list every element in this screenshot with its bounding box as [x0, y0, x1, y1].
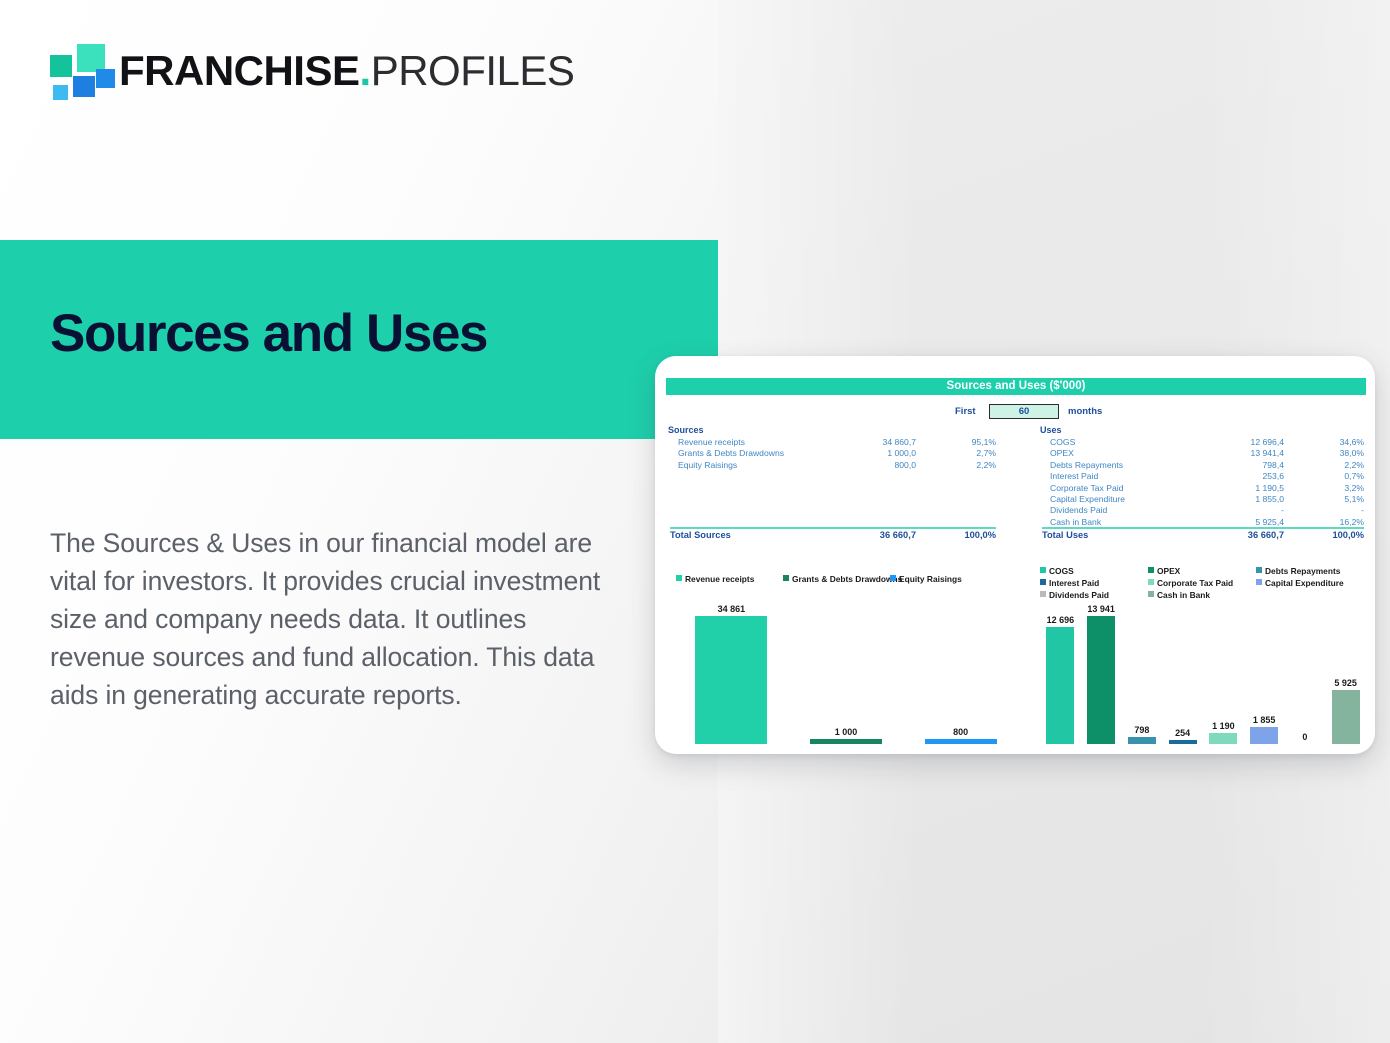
- uses-table: Uses COGS 12 696,4 34,6% OPEX 13 941,4 3…: [1040, 424, 1366, 528]
- legend-label: Corporate Tax Paid: [1157, 578, 1233, 588]
- bar-column[interactable]: 5 925: [1332, 616, 1360, 744]
- bar-value-label: 12 696: [1047, 615, 1075, 625]
- legend-swatch-icon: [1040, 591, 1046, 597]
- bar: [1169, 740, 1197, 744]
- bar-value-label: 0: [1302, 732, 1307, 742]
- table-row: Corporate Tax Paid 1 190,5 3,2%: [1040, 483, 1366, 494]
- bar-value-label: 800: [953, 727, 968, 737]
- row-value: 800,0: [894, 460, 916, 471]
- legend-swatch-icon: [783, 575, 789, 581]
- months-prefix-label: First: [955, 404, 976, 420]
- legend-label: Grants & Debts Drawdowns: [792, 574, 902, 584]
- legend-swatch-icon: [1040, 567, 1046, 573]
- logo-squares-icon: [47, 42, 111, 100]
- row-percent: 0,7%: [1344, 471, 1364, 482]
- uses-bar-chart: 12 69613 9417982541 1901 85505 925: [1040, 600, 1366, 744]
- bar: [695, 616, 767, 744]
- row-value: 798,4: [1262, 460, 1284, 471]
- legend-label: Dividends Paid: [1049, 590, 1109, 600]
- logo-square-1: [50, 55, 72, 77]
- total-value: 36 660,7: [1248, 529, 1284, 542]
- total-value: 36 660,7: [880, 529, 916, 542]
- slide-canvas: FRANCHISE.PROFILES Sources and Uses The …: [0, 0, 1390, 1043]
- bar-column[interactable]: 13 941: [1087, 616, 1115, 744]
- legend-label: Debts Repayments: [1265, 566, 1340, 576]
- sources-total-row: Total Sources 36 660,7 100,0%: [668, 529, 998, 542]
- legend-item[interactable]: Capital Expenditure: [1256, 578, 1344, 589]
- brand-name-light: PROFILES: [371, 47, 575, 94]
- legend-label: Capital Expenditure: [1265, 578, 1344, 588]
- legend-label: Cash in Bank: [1157, 590, 1210, 600]
- row-percent: 2,2%: [1344, 460, 1364, 471]
- background-left-panel: [0, 0, 718, 1043]
- legend-label: Equity Raisings: [899, 574, 962, 584]
- row-value: 34 860,7: [883, 437, 916, 448]
- row-value: -: [1281, 505, 1284, 516]
- bar-column[interactable]: 12 696: [1046, 616, 1074, 744]
- sources-and-uses-sheet: Sources and Uses ($'000) First months So…: [666, 378, 1366, 744]
- legend-item[interactable]: OPEX: [1148, 566, 1180, 577]
- total-percent: 100,0%: [964, 529, 996, 542]
- table-row: Grants & Debts Drawdowns 1 000,0 2,7%: [668, 448, 998, 459]
- table-row: Capital Expenditure 1 855,0 5,1%: [1040, 494, 1366, 505]
- row-value: 253,6: [1262, 471, 1284, 482]
- logo-square-3: [73, 76, 95, 97]
- bar-value-label: 34 861: [718, 604, 746, 614]
- legend-label: OPEX: [1157, 566, 1180, 576]
- page-title: Sources and Uses: [50, 307, 487, 360]
- bar-column[interactable]: 1 855: [1250, 616, 1278, 744]
- total-label: Total Sources: [670, 529, 731, 542]
- row-label: Dividends Paid: [1050, 505, 1107, 516]
- bar-column[interactable]: 800: [925, 616, 997, 744]
- total-label: Total Uses: [1042, 529, 1088, 542]
- row-value: 1 000,0: [887, 448, 916, 459]
- total-percent: 100,0%: [1332, 529, 1364, 542]
- sources-table: Sources Revenue receipts 34 860,7 95,1% …: [668, 424, 998, 471]
- row-label: Grants & Debts Drawdowns: [678, 448, 784, 459]
- bar-value-label: 1 190: [1212, 721, 1235, 731]
- bar: [1128, 737, 1156, 744]
- bar-value-label: 1 000: [835, 727, 858, 737]
- legend-swatch-icon: [1256, 567, 1262, 573]
- months-suffix-label: months: [1068, 404, 1102, 420]
- legend-swatch-icon: [1148, 567, 1154, 573]
- uses-table-header: Uses: [1040, 424, 1366, 437]
- legend-item[interactable]: Interest Paid: [1040, 578, 1099, 589]
- legend-item[interactable]: Grants & Debts Drawdowns: [783, 574, 902, 585]
- bar-value-label: 798: [1134, 725, 1149, 735]
- spreadsheet-card: Sources and Uses ($'000) First months So…: [655, 356, 1375, 754]
- logo-square-2: [77, 44, 105, 72]
- bar-value-label: 13 941: [1087, 604, 1115, 614]
- table-row: Equity Raisings 800,0 2,2%: [668, 460, 998, 471]
- bar-value-label: 1 855: [1253, 715, 1276, 725]
- table-row: COGS 12 696,4 34,6%: [1040, 437, 1366, 448]
- legend-item[interactable]: Debts Repayments: [1256, 566, 1340, 577]
- brand-name-bold: FRANCHISE: [119, 47, 360, 94]
- legend-swatch-icon: [1148, 579, 1154, 585]
- logo-square-5: [53, 85, 68, 100]
- row-label: Corporate Tax Paid: [1050, 483, 1123, 494]
- row-percent: -: [1361, 505, 1364, 516]
- bar: [1332, 690, 1360, 744]
- legend-item[interactable]: COGS: [1040, 566, 1074, 577]
- bar-column[interactable]: 0: [1291, 616, 1319, 744]
- bar: [1250, 727, 1278, 744]
- row-label: COGS: [1050, 437, 1075, 448]
- bar: [925, 739, 997, 744]
- legend-label: Revenue receipts: [685, 574, 754, 584]
- brand-name-dot: .: [360, 47, 371, 94]
- months-input[interactable]: [989, 404, 1059, 419]
- legend-swatch-icon: [676, 575, 682, 581]
- sources-bar-chart: 34 8611 000800: [674, 600, 1018, 744]
- legend-item[interactable]: Equity Raisings: [890, 574, 962, 585]
- row-value: 13 941,4: [1251, 448, 1284, 459]
- legend-label: Interest Paid: [1049, 578, 1099, 588]
- table-row: Revenue receipts 34 860,7 95,1%: [668, 437, 998, 448]
- row-label: Equity Raisings: [678, 460, 737, 471]
- legend-item[interactable]: Revenue receipts: [676, 574, 754, 585]
- brand-wordmark: FRANCHISE.PROFILES: [119, 40, 574, 102]
- logo-square-4: [96, 69, 115, 88]
- legend-swatch-icon: [890, 575, 896, 581]
- bar-value-label: 5 925: [1334, 678, 1357, 688]
- row-label: Interest Paid: [1050, 471, 1098, 482]
- sources-table-header: Sources: [668, 424, 998, 437]
- legend-item[interactable]: Corporate Tax Paid: [1148, 578, 1233, 589]
- row-percent: 2,2%: [976, 460, 996, 471]
- legend-swatch-icon: [1148, 591, 1154, 597]
- bar: [1046, 627, 1074, 744]
- bar: [1087, 616, 1115, 744]
- bar-column[interactable]: 798: [1128, 616, 1156, 744]
- row-label: Capital Expenditure: [1050, 494, 1125, 505]
- row-label: OPEX: [1050, 448, 1074, 459]
- bar: [1209, 733, 1237, 744]
- uses-total-row: Total Uses 36 660,7 100,0%: [1040, 529, 1366, 542]
- row-percent: 34,6%: [1340, 437, 1364, 448]
- row-percent: 95,1%: [972, 437, 996, 448]
- bar-column[interactable]: 34 861: [695, 616, 767, 744]
- legend-label: COGS: [1049, 566, 1074, 576]
- table-row: Dividends Paid - -: [1040, 505, 1366, 516]
- bar-column[interactable]: 254: [1169, 616, 1197, 744]
- row-label: Revenue receipts: [678, 437, 745, 448]
- bar-column[interactable]: 1 190: [1209, 616, 1237, 744]
- legend-swatch-icon: [1040, 579, 1046, 585]
- sheet-title-bar: Sources and Uses ($'000): [666, 378, 1366, 395]
- row-percent: 38,0%: [1340, 448, 1364, 459]
- row-percent: 5,1%: [1344, 494, 1364, 505]
- table-row: Interest Paid 253,6 0,7%: [1040, 471, 1366, 482]
- bar-value-label: 254: [1175, 728, 1190, 738]
- row-value: 12 696,4: [1251, 437, 1284, 448]
- brand-logo: FRANCHISE.PROFILES: [47, 42, 547, 104]
- row-percent: 2,7%: [976, 448, 996, 459]
- row-label: Debts Repayments: [1050, 460, 1123, 471]
- months-control: First months: [666, 404, 1366, 420]
- row-value: 1 190,5: [1255, 483, 1284, 494]
- row-value: 1 855,0: [1255, 494, 1284, 505]
- uses-rows: COGS 12 696,4 34,6% OPEX 13 941,4 38,0% …: [1040, 437, 1366, 528]
- legend-swatch-icon: [1256, 579, 1262, 585]
- bar-column[interactable]: 1 000: [810, 616, 882, 744]
- body-paragraph: The Sources & Uses in our financial mode…: [50, 524, 616, 714]
- bar: [810, 739, 882, 744]
- table-row: Debts Repayments 798,4 2,2%: [1040, 460, 1366, 471]
- row-percent: 3,2%: [1344, 483, 1364, 494]
- table-row: OPEX 13 941,4 38,0%: [1040, 448, 1366, 459]
- sources-rows: Revenue receipts 34 860,7 95,1% Grants &…: [668, 437, 998, 471]
